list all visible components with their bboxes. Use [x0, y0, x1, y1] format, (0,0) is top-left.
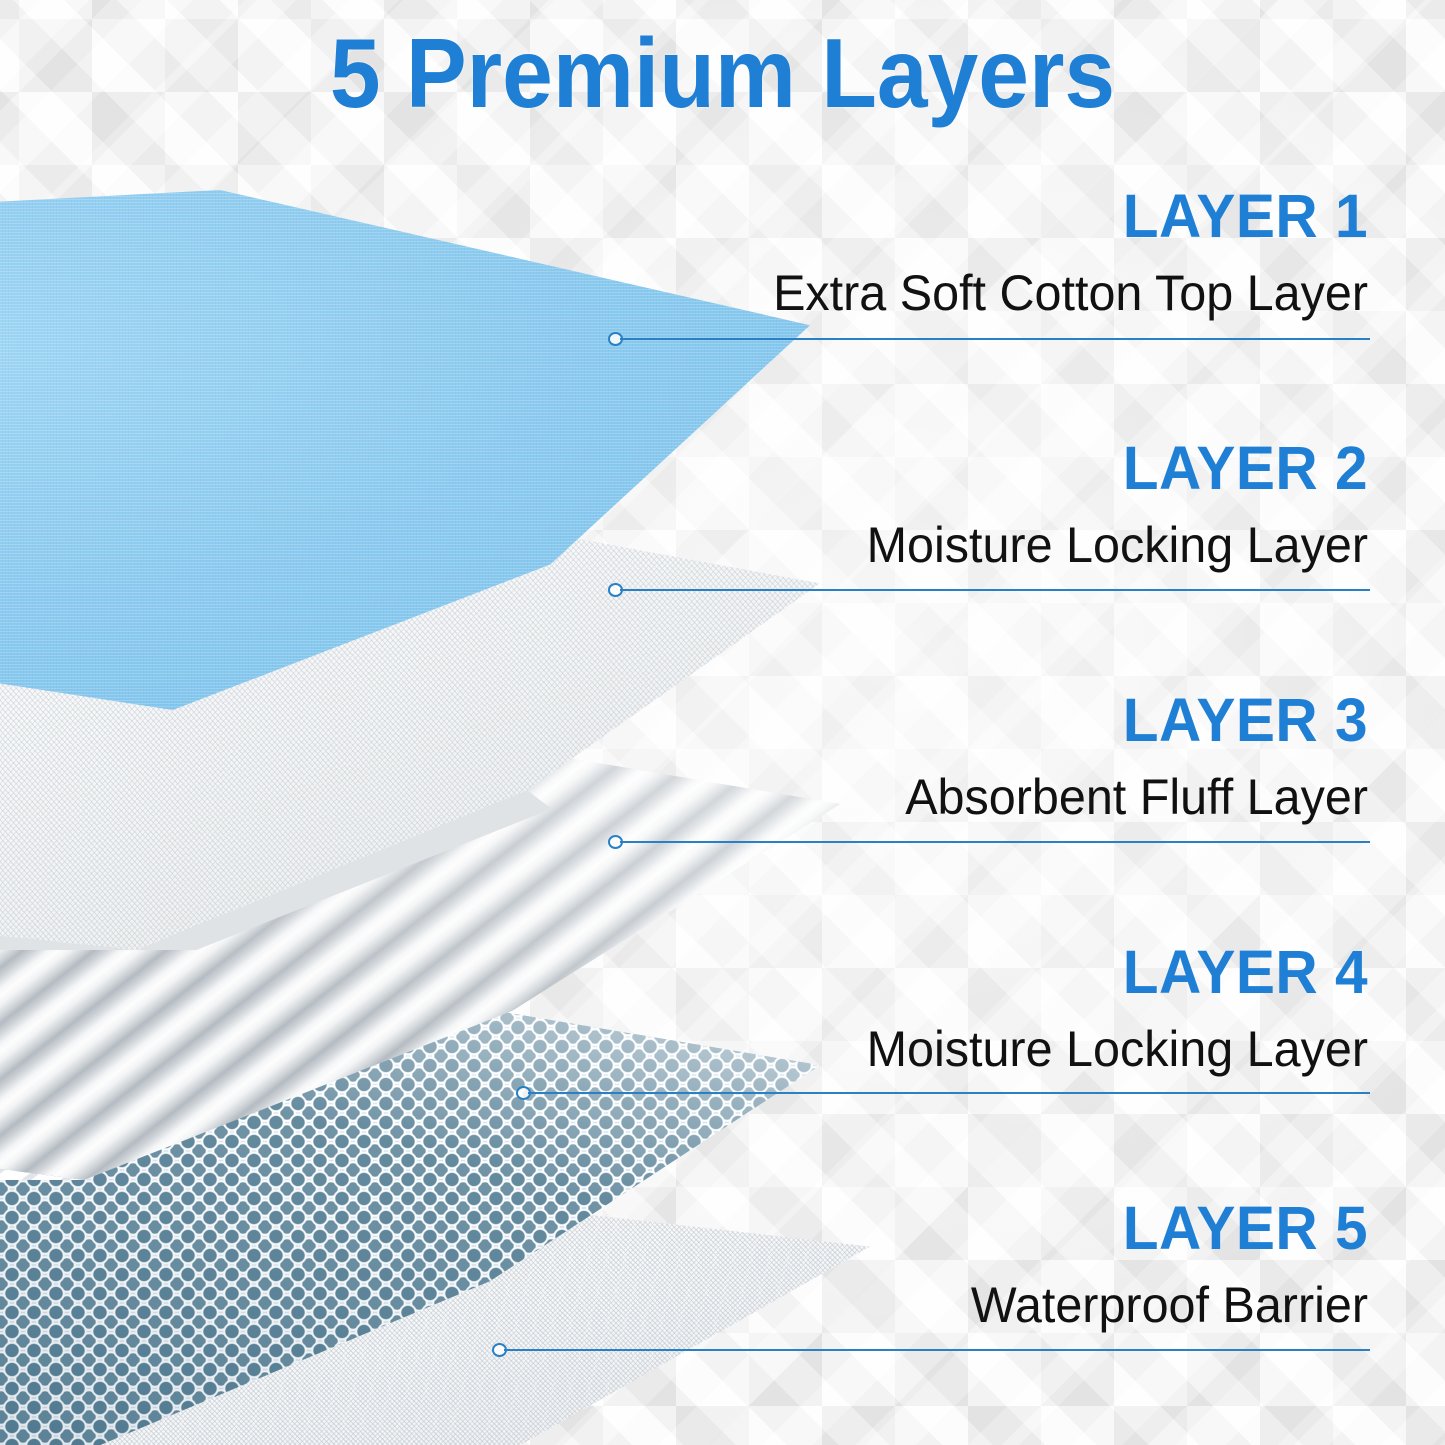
layer-2-description: Moisture Locking Layer [602, 519, 1368, 572]
layer-4-description: Moisture Locking Layer [602, 1023, 1368, 1076]
page-title: 5 Premium Layers [51, 24, 1395, 122]
callout-layer-4: LAYER 4 Moisture Locking Layer [578, 942, 1368, 1076]
connector-line-layer-4 [516, 1086, 1370, 1100]
connector-rule-layer-3 [620, 841, 1370, 843]
layer-3-label: LAYER 3 [610, 690, 1368, 751]
connector-line-layer-1 [608, 332, 1370, 346]
layer-4-label: LAYER 4 [610, 942, 1368, 1003]
connector-rule-layer-2 [620, 589, 1370, 591]
callout-layer-5: LAYER 5 Waterproof Barrier [578, 1198, 1368, 1332]
layer-2-label: LAYER 2 [610, 438, 1368, 499]
connector-rule-layer-1 [620, 338, 1370, 340]
layers-infographic: 5 Premium Layers LAYER 1 Extra Soft Cott… [0, 0, 1445, 1445]
callout-layer-1: LAYER 1 Extra Soft Cotton Top Layer [578, 186, 1368, 320]
connector-line-layer-2 [608, 583, 1370, 597]
layer-5-label: LAYER 5 [610, 1198, 1368, 1259]
callout-layer-2: LAYER 2 Moisture Locking Layer [578, 438, 1368, 572]
connector-line-layer-5 [492, 1343, 1370, 1357]
connector-rule-layer-4 [528, 1092, 1370, 1094]
connector-line-layer-3 [608, 835, 1370, 849]
layer-1-label: LAYER 1 [610, 186, 1368, 247]
callout-layer-3: LAYER 3 Absorbent Fluff Layer [578, 690, 1368, 824]
layer-3-description: Absorbent Fluff Layer [602, 771, 1368, 824]
connector-rule-layer-5 [504, 1349, 1370, 1351]
layer-5-description: Waterproof Barrier [602, 1279, 1368, 1332]
layer-1-description: Extra Soft Cotton Top Layer [602, 267, 1368, 320]
